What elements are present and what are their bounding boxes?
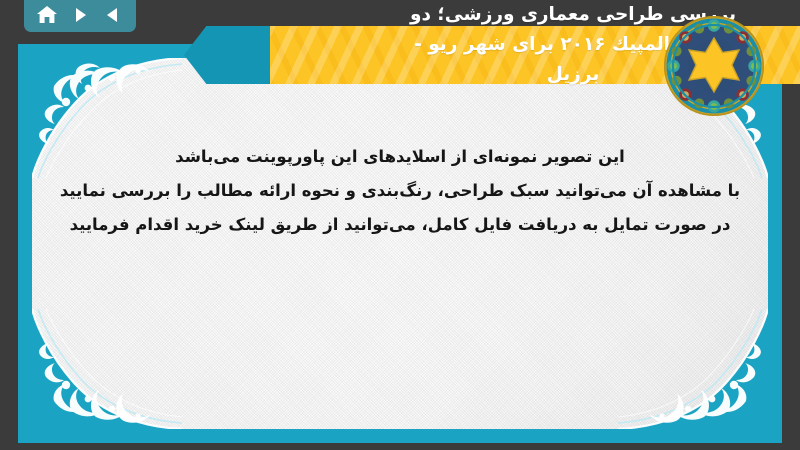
body-line-1: این تصویر نمونه‌ای از اسلایدهای این پاور… <box>42 140 758 174</box>
triangle-left-icon <box>103 5 123 25</box>
slide-content-background <box>32 58 768 429</box>
previous-slide-button[interactable] <box>100 3 126 27</box>
islamic-mandala-ornament <box>662 14 766 118</box>
slide-body-text: این تصویر نمونه‌ای از اسلایدهای این پاور… <box>42 140 758 242</box>
home-button[interactable] <box>34 3 60 27</box>
presentation-viewer: این تصویر نمونه‌ای از اسلایدهای این پاور… <box>0 0 800 450</box>
body-line-3: در صورت تمایل به دریافت فایل کامل، می‌تو… <box>42 208 758 242</box>
body-line-2: با مشاهده آن می‌توانید سبک طراحی، رنگ‌بن… <box>42 174 758 208</box>
viewer-toolbar <box>24 0 136 32</box>
home-icon <box>36 5 58 25</box>
next-slide-button[interactable] <box>67 3 93 27</box>
triangle-right-icon <box>70 5 90 25</box>
